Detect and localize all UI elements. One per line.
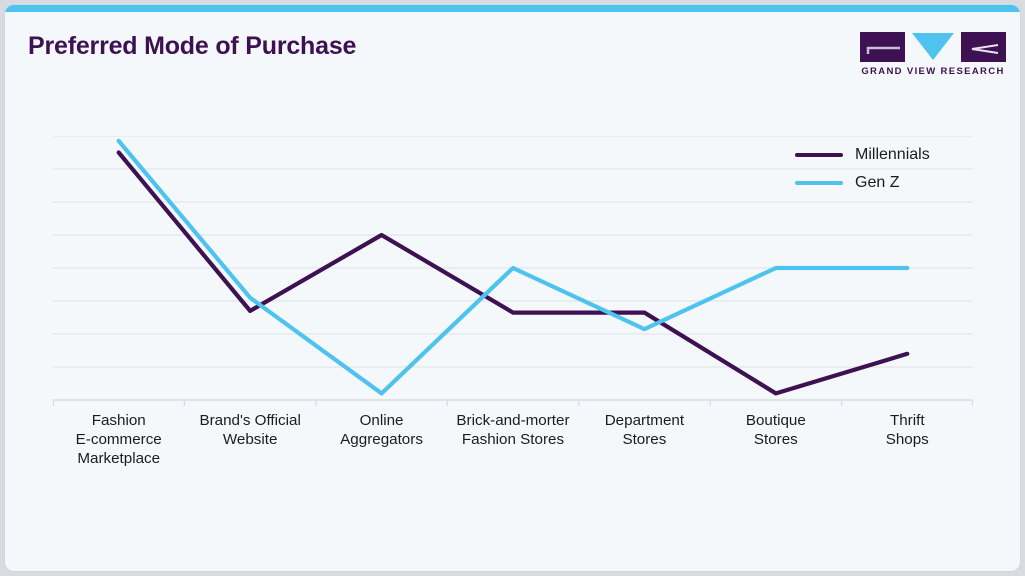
x-axis-label-line: Boutique <box>710 411 841 430</box>
legend-item[interactable]: Millennials <box>795 141 985 169</box>
x-axis-label-line: Aggregators <box>316 430 447 449</box>
legend-label: Gen Z <box>855 174 899 192</box>
series-line-gen-z <box>119 141 908 394</box>
x-axis-label: FashionE-commerceMarketplace <box>53 411 184 473</box>
x-axis-label-line: Brick-and-morter <box>447 411 578 430</box>
legend-label: Millennials <box>855 146 930 164</box>
logo-mark <box>860 32 1006 62</box>
x-axis-label-line: Department <box>579 411 710 430</box>
x-axis-label-line: Website <box>184 430 315 449</box>
x-axis-label: Brick-and-morterFashion Stores <box>447 411 578 473</box>
chart-legend: MillennialsGen Z <box>795 141 985 197</box>
x-axis-label: BoutiqueStores <box>710 411 841 473</box>
legend-swatch-icon <box>795 181 843 185</box>
top-accent-bar <box>5 5 1020 12</box>
x-axis-label: Brand's OfficialWebsite <box>184 411 315 473</box>
x-axis-label-line: Thrift <box>842 411 973 430</box>
axis-ticks <box>54 400 973 406</box>
logo-triangle-icon <box>912 33 954 60</box>
series-line-millennials <box>119 153 908 394</box>
legend-item[interactable]: Gen Z <box>795 169 985 197</box>
chart-card: Preferred Mode of Purchase GRAND VIEW RE… <box>4 4 1021 572</box>
x-axis-label: OnlineAggregators <box>316 411 447 473</box>
brand-logo: GRAND VIEW RESEARCH <box>860 32 1006 80</box>
logo-wordmark: GRAND VIEW RESEARCH <box>860 66 1006 77</box>
x-axis-label: DepartmentStores <box>579 411 710 473</box>
legend-swatch-icon <box>795 153 843 157</box>
page-title: Preferred Mode of Purchase <box>28 32 356 61</box>
logo-mark-svg <box>860 32 1006 62</box>
x-axis-label-line: Fashion Stores <box>447 430 578 449</box>
x-axis-label-line: Stores <box>579 430 710 449</box>
x-axis-labels: FashionE-commerceMarketplaceBrand's Offi… <box>53 411 973 473</box>
x-axis-label-line: Shops <box>842 430 973 449</box>
x-axis-label-line: Brand's Official <box>184 411 315 430</box>
data-series-group <box>119 141 908 394</box>
x-axis-label-line: Stores <box>710 430 841 449</box>
x-axis-label: ThriftShops <box>842 411 973 473</box>
x-axis-label-line: Marketplace <box>53 449 184 468</box>
x-axis-label-line: E-commerce <box>53 430 184 449</box>
x-axis-label-line: Online <box>316 411 447 430</box>
x-axis-label-line: Fashion <box>53 411 184 430</box>
